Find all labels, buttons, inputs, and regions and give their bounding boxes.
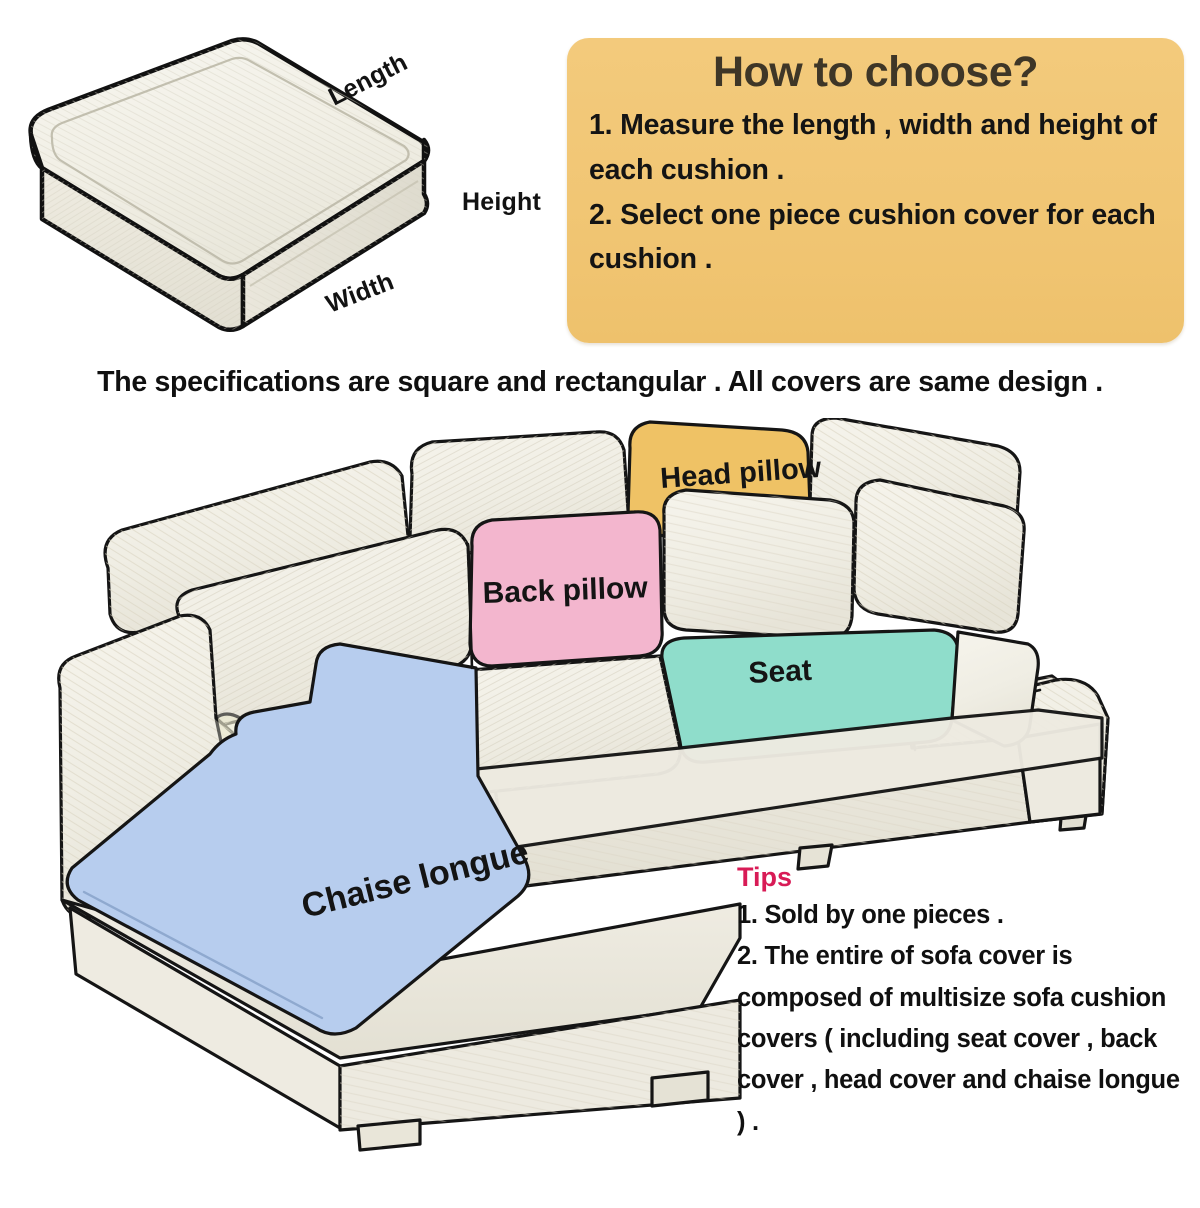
cushion-length-label: Length (324, 48, 412, 111)
infographic-canvas: Length Height Width How to choose? 1. Me… (0, 0, 1200, 1200)
tips-item-2: 2. The entire of sofa cover is composed … (737, 936, 1187, 1142)
tips-title: Tips (737, 862, 1187, 893)
chaise-foot-right (652, 1072, 708, 1106)
how-to-choose-step-1: 1. Measure the length , width and height… (589, 103, 1162, 192)
chaise-foot-front (358, 1120, 420, 1150)
cushion-width-label: Width (322, 267, 398, 318)
how-to-choose-step-2: 2. Select one piece cushion cover for ea… (589, 193, 1162, 282)
how-to-choose-callout: How to choose? 1. Measure the length , w… (567, 38, 1184, 343)
tips-block: Tips 1. Sold by one pieces . 2. The enti… (737, 862, 1187, 1143)
cushion-height-label: Height (462, 188, 541, 216)
how-to-choose-steps: 1. Measure the length , width and height… (589, 103, 1162, 282)
cushion-diagram: Length Height Width (0, 18, 570, 363)
specifications-note: The specifications are square and rectan… (0, 366, 1200, 399)
how-to-choose-title: How to choose? (589, 48, 1162, 96)
seat-label: Seat (748, 654, 813, 690)
tips-item-1: 1. Sold by one pieces . (737, 895, 1187, 936)
tips-items: 1. Sold by one pieces . 2. The entire of… (737, 895, 1187, 1143)
back-pillow-label: Back pillow (482, 571, 649, 610)
